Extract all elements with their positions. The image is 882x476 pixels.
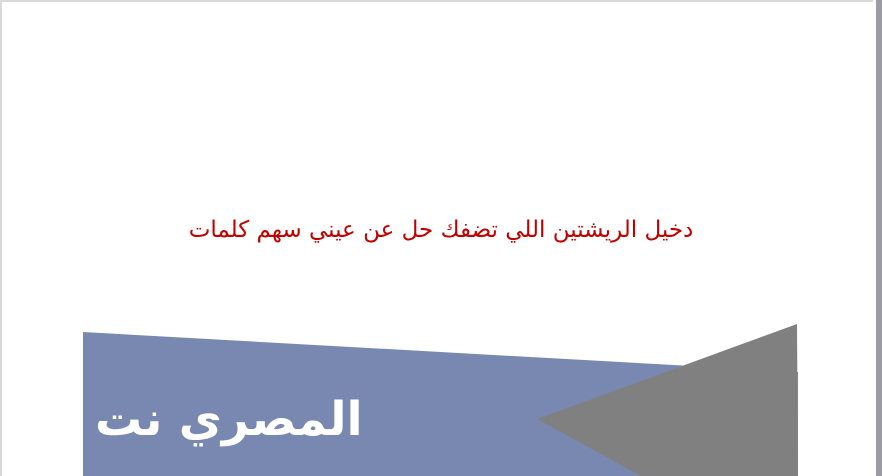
page-title: دخيل الريشتين اللي تضفك حل عن عيني سهم ك…	[0, 213, 882, 247]
slide-canvas: دخيل الريشتين اللي تضفك حل عن عيني سهم ك…	[0, 0, 882, 476]
scroll-gutter[interactable]	[876, 0, 882, 476]
brand-wordmark: المصري نت	[95, 392, 363, 448]
